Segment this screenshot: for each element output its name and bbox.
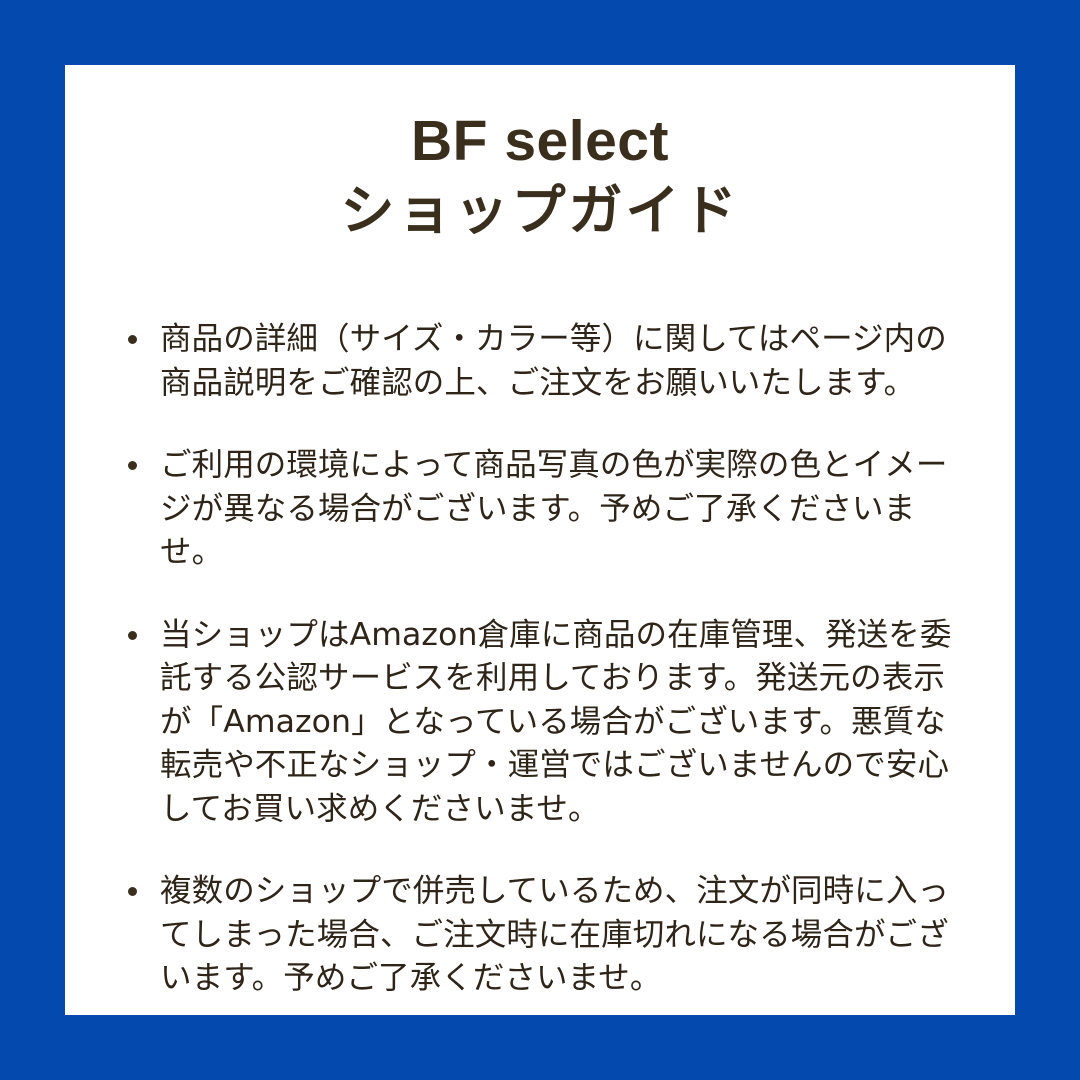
page-title: BF select ショップガイド (65, 112, 1015, 245)
note-text: 当ショップはAmazon倉庫に商品の在庫管理、発送を委託する公認サービスを利用し… (160, 614, 963, 832)
title-subtitle: ショップガイド (65, 176, 1015, 245)
title-brand: BF select (65, 112, 1015, 172)
guide-card: BF select ショップガイド 商品の詳細（サイズ・カラー等）に関してはペー… (65, 65, 1015, 1015)
note-text: ご利用の環境によって商品写真の色が実際の色とイメージが異なる場合がございます。予… (160, 444, 963, 575)
shop-guide-poster: BF select ショップガイド 商品の詳細（サイズ・カラー等）に関してはペー… (0, 0, 1080, 1080)
guide-notes-list: 商品の詳細（サイズ・カラー等）に関してはページ内の商品説明をご確認の上、ご注文を… (123, 318, 963, 1001)
list-item: ご利用の環境によって商品写真の色が実際の色とイメージが異なる場合がございます。予… (123, 444, 963, 575)
note-text: 複数のショップで併売しているため、注文が同時に入ってしまった場合、ご注文時に在庫… (160, 870, 963, 1001)
bullet-dot-icon (128, 631, 137, 640)
bullet-dot-icon (128, 461, 137, 470)
list-item: 商品の詳細（サイズ・カラー等）に関してはページ内の商品説明をご確認の上、ご注文を… (123, 318, 963, 405)
bullet-dot-icon (128, 335, 137, 344)
bullet-dot-icon (128, 887, 137, 896)
list-item: 当ショップはAmazon倉庫に商品の在庫管理、発送を委託する公認サービスを利用し… (123, 614, 963, 832)
note-text: 商品の詳細（サイズ・カラー等）に関してはページ内の商品説明をご確認の上、ご注文を… (160, 318, 963, 405)
list-item: 複数のショップで併売しているため、注文が同時に入ってしまった場合、ご注文時に在庫… (123, 870, 963, 1001)
